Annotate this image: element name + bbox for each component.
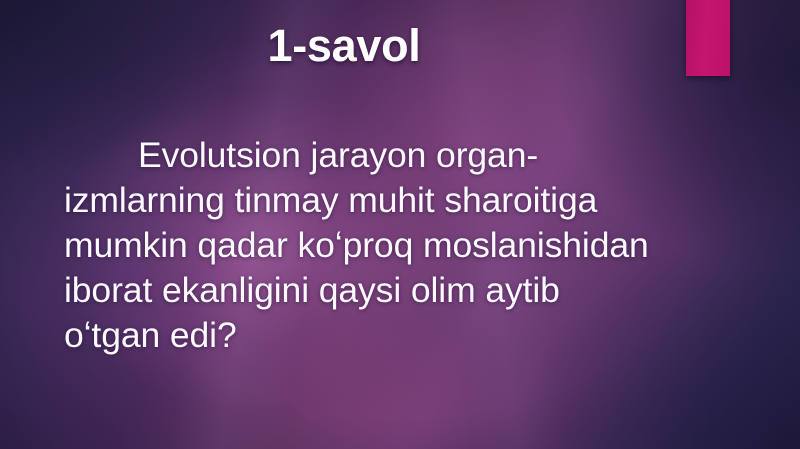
slide-title: 1-savol — [0, 22, 800, 69]
body-line-1: Evolutsion jarayon organ- — [64, 133, 764, 178]
body-line-3: mumkin qadar koʻproq moslanishidan — [64, 223, 764, 268]
body-line-1-text: Evolutsion jarayon organ- — [138, 135, 538, 175]
body-line-4: iborat ekanligini qaysi olim aytib — [64, 268, 764, 313]
presentation-slide: 1-savol Evolutsion jarayon organ- izmlar… — [0, 0, 800, 449]
body-line-2: izmlarning tinmay muhit sharoitiga — [64, 178, 764, 223]
slide-body-text: Evolutsion jarayon organ- izmlarning tin… — [64, 133, 764, 358]
body-line-5: oʻtgan edi? — [64, 313, 764, 358]
